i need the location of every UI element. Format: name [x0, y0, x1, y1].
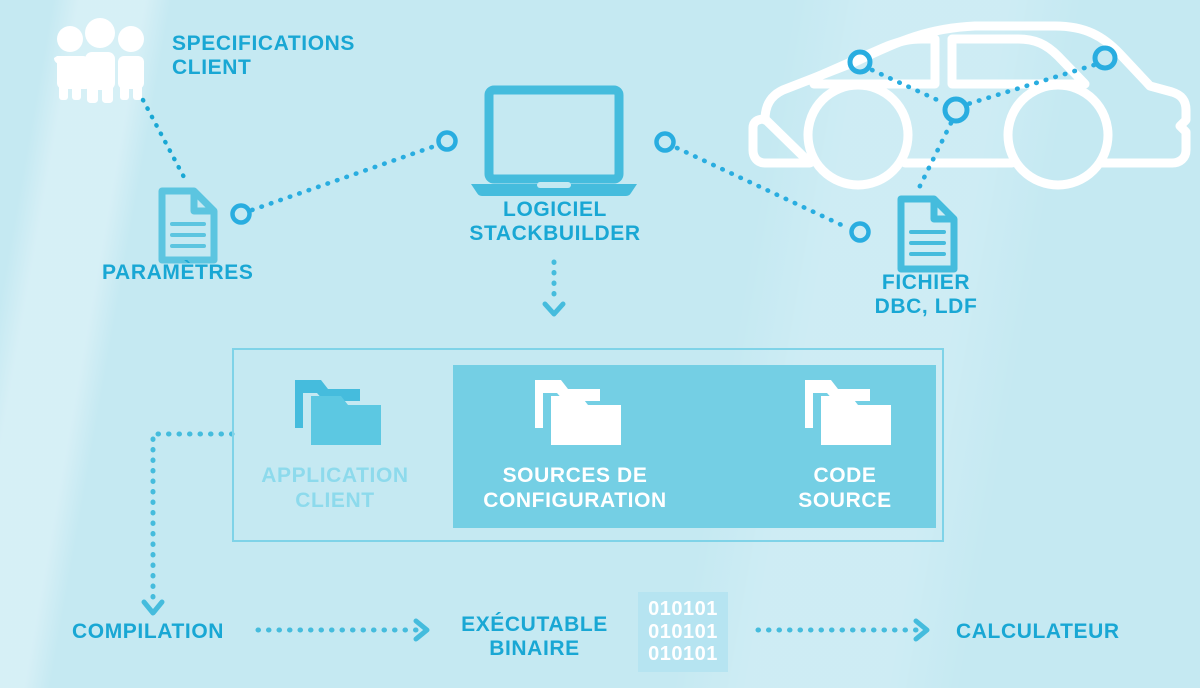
stack-cell-label: CODE SOURCE	[750, 464, 940, 514]
label-calculateur: CALCULATEUR	[956, 620, 1120, 644]
document-icon-fichier	[901, 199, 954, 269]
binary-line: 010101	[648, 643, 718, 665]
stack-cell-label: APPLICATION CLIENT	[240, 464, 430, 514]
binary-line: 010101	[648, 598, 718, 620]
stack-cell-sources-de-configuration: SOURCES DE CONFIGURATION	[455, 372, 695, 514]
arrow-head-compilation	[144, 602, 162, 613]
path-stack-to-compilation	[153, 434, 232, 604]
diagram-graphics	[0, 0, 1200, 688]
label-executable-binaire: EXÉCUTABLE BINAIRE	[452, 613, 617, 661]
stack-cell-application-client: APPLICATION CLIENT	[240, 372, 430, 514]
label-fichier-dbc-ldf: FICHIER DBC, LDF	[848, 271, 1004, 319]
connector-node-laptop-right	[657, 134, 674, 151]
people-group-icon	[54, 18, 144, 103]
binary-code-block: 010101 010101 010101	[638, 592, 728, 672]
arrow-head-stack	[545, 304, 563, 314]
document-icon-parametres	[162, 191, 214, 260]
folders-icon	[799, 372, 891, 452]
connector-node-laptop-left	[439, 133, 456, 150]
car-node-center	[945, 99, 967, 121]
connector-car-center-to-fichier	[918, 123, 951, 190]
label-parametres: PARAMÈTRES	[102, 261, 253, 285]
stack-cell-label: SOURCES DE CONFIGURATION	[455, 464, 695, 514]
binary-line: 010101	[648, 621, 718, 643]
label-compilation: COMPILATION	[72, 620, 224, 644]
folders-icon	[529, 372, 621, 452]
connector-parametres-to-logiciel	[252, 146, 435, 210]
connector-node-left	[233, 206, 250, 223]
diagram-canvas: SPECIFICATIONS CLIENT PARAMÈTRES LOGICIE…	[0, 0, 1200, 688]
label-logiciel-stackbuilder: LOGICIEL STACKBUILDER	[460, 198, 650, 246]
connector-people-to-parametres	[143, 100, 186, 181]
connector-node-fichier	[852, 224, 869, 241]
folders-icon	[289, 372, 381, 452]
laptop-icon	[471, 90, 637, 196]
stack-cell-code-source: CODE SOURCE	[750, 372, 940, 514]
car-node-rear	[1095, 48, 1115, 68]
label-specifications-client: SPECIFICATIONS CLIENT	[172, 32, 355, 80]
